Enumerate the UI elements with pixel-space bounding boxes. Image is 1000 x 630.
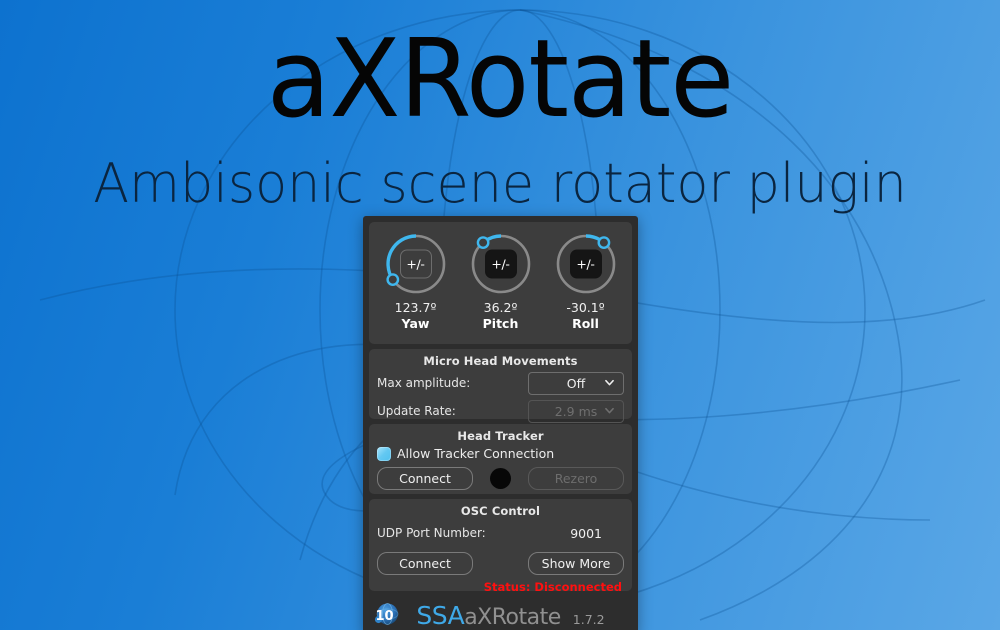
osc-control-section: OSC Control UDP Port Number: 9001 Connec… <box>369 499 632 591</box>
update-rate-select[interactable]: 2.9 ms <box>528 400 624 423</box>
allow-tracker-connection-checkbox[interactable] <box>377 447 391 461</box>
chevron-down-icon <box>605 406 614 415</box>
brand-prefix: SSA <box>416 601 464 630</box>
knob-dial-pitch[interactable]: +/- <box>467 230 535 298</box>
knob-roll[interactable]: +/- -30.1º Roll <box>547 230 625 331</box>
udp-port-label: UDP Port Number: <box>377 526 486 540</box>
hero-title: aXRotate <box>20 26 980 134</box>
knob-dial-yaw[interactable]: +/- <box>382 230 450 298</box>
allow-tracker-connection-label: Allow Tracker Connection <box>397 446 554 461</box>
tracker-button-row: Connect Rezero <box>377 467 624 490</box>
update-rate-label: Update Rate: <box>377 404 456 418</box>
tracker-connect-button[interactable]: Connect <box>377 467 473 490</box>
knob-value-pitch: 36.2º <box>484 300 518 315</box>
knob-yaw[interactable]: +/- 123.7º Yaw <box>377 230 455 331</box>
hero-subtitle: Ambisonic scene rotator plugin <box>15 157 985 211</box>
max-amplitude-label: Max amplitude: <box>377 376 470 390</box>
page-root: aXRotate Ambisonic scene rotator plugin … <box>0 0 1000 630</box>
osc-show-more-button[interactable]: Show More <box>528 552 624 575</box>
knob-plusminus-pitch[interactable]: +/- <box>485 250 517 279</box>
chevron-down-icon <box>605 378 614 387</box>
knob-pitch[interactable]: +/- 36.2º Pitch <box>462 230 540 331</box>
tracker-status-led-icon <box>490 468 511 489</box>
knob-label-pitch: Pitch <box>483 316 519 331</box>
tracker-rezero-button[interactable]: Rezero <box>528 467 624 490</box>
micro-head-movements-title: Micro Head Movements <box>377 349 624 368</box>
brand-lockup: SSAaXRotate1.7.2 <box>395 601 626 630</box>
osc-status-text: Status: Disconnected <box>377 580 624 594</box>
knob-label-roll: Roll <box>572 316 599 331</box>
allow-tracker-connection-row[interactable]: Allow Tracker Connection <box>377 446 624 461</box>
plugin-footer: 10 SSAaXRotate1.7.2 <box>363 596 638 630</box>
micro-head-movements-section: Micro Head Movements Max amplitude: Off … <box>369 349 632 419</box>
head-tracker-section: Head Tracker Allow Tracker Connection Co… <box>369 424 632 494</box>
knob-dial-roll[interactable]: +/- <box>552 230 620 298</box>
plugin-window: +/- 123.7º Yaw +/- 36.2º Pitch <box>363 216 638 630</box>
rotation-knobs-section: +/- 123.7º Yaw +/- 36.2º Pitch <box>369 222 632 344</box>
head-tracker-title: Head Tracker <box>377 424 624 443</box>
udp-port-row: UDP Port Number: 9001 <box>377 520 624 546</box>
max-amplitude-select[interactable]: Off <box>528 372 624 395</box>
knob-value-yaw: 123.7º <box>395 300 437 315</box>
svg-text:10: 10 <box>375 609 393 624</box>
brand-product-name: aXRotate <box>464 605 561 630</box>
osc-connect-button[interactable]: Connect <box>377 552 473 575</box>
udp-port-value[interactable]: 9001 <box>570 526 624 541</box>
knob-label-yaw: Yaw <box>402 316 430 331</box>
knob-value-roll: -30.1º <box>566 300 604 315</box>
knob-plusminus-yaw[interactable]: +/- <box>400 250 432 279</box>
update-rate-row: Update Rate: 2.9 ms <box>377 398 624 424</box>
osc-button-row: Connect Show More <box>377 552 624 575</box>
update-rate-value: 2.9 ms <box>555 404 598 419</box>
max-amplitude-row: Max amplitude: Off <box>377 370 624 396</box>
version-label: 1.7.2 <box>573 612 605 627</box>
osc-control-title: OSC Control <box>377 499 624 518</box>
knob-plusminus-roll[interactable]: +/- <box>570 250 602 279</box>
max-amplitude-value: Off <box>567 376 585 391</box>
